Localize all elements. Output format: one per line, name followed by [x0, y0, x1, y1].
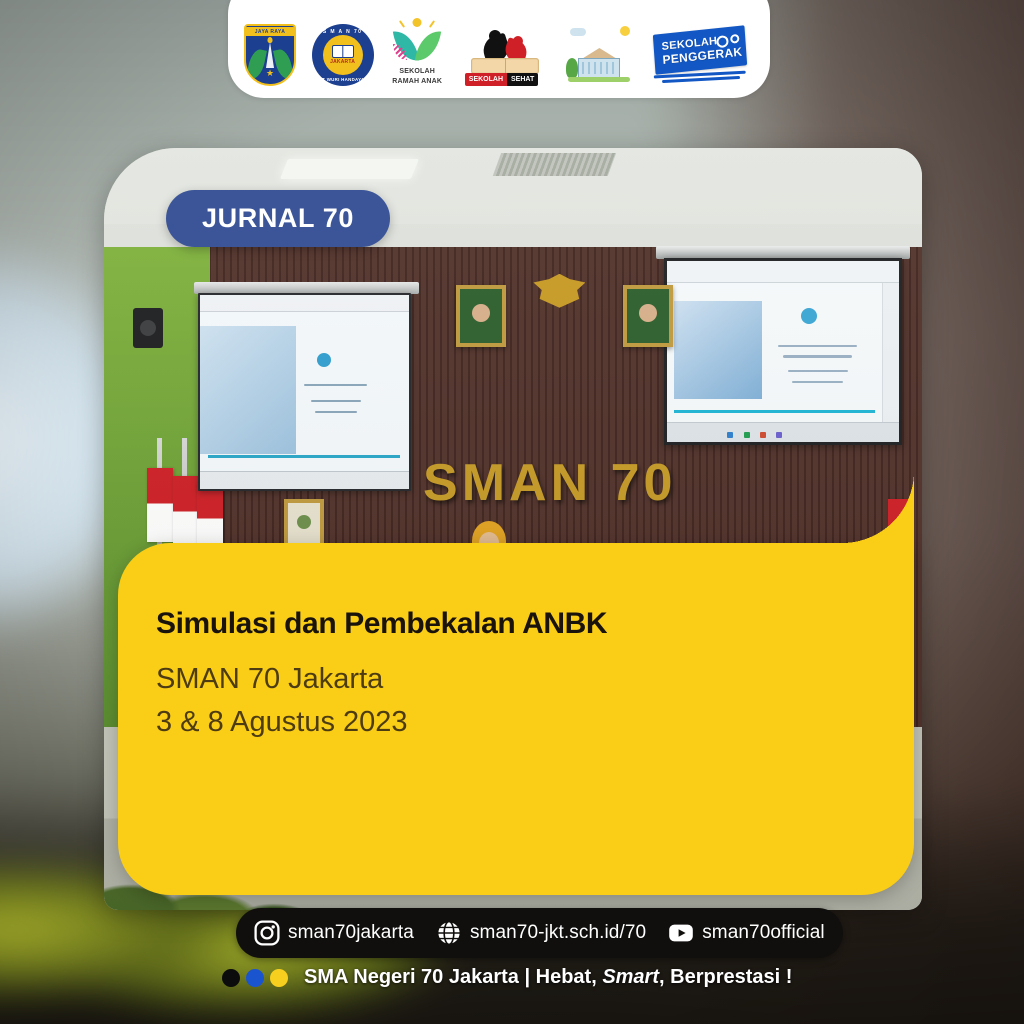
dki-leaf-right — [273, 48, 294, 80]
wall-speaker — [133, 308, 163, 348]
house-body — [578, 58, 620, 78]
logo-green-school-house — [564, 12, 634, 86]
sman70-logo-icon: S M A N 70 JAKARTA TUT WURI HANDAYANI — [312, 24, 374, 86]
tagline-part-after: , Berprestasi ! — [659, 966, 792, 988]
logo-sekolah-ramah-anak: SEKOLAH RAMAH ANAK — [389, 12, 445, 86]
info-card-corner-notch — [842, 471, 914, 543]
slide-toolbar-left — [200, 295, 409, 312]
president-portrait — [456, 285, 506, 347]
sekolah-penggerak-icon: SEKOLAH PENGGERAK — [650, 26, 754, 86]
slide-text-line — [792, 381, 843, 384]
sp-flag-banner: SEKOLAH PENGGERAK — [653, 25, 747, 75]
event-date: 3 & 8 Agustus 2023 — [156, 706, 408, 739]
ss-wordmark-part1: SEKOLAH — [465, 73, 507, 86]
sman70-arc-top-label: S M A N 70 — [312, 29, 374, 35]
slide-accent-bar-right — [674, 410, 875, 413]
ss-wordmark-part2: SEHAT — [507, 73, 538, 86]
social-links-bar: sman70jakarta sman70-jkt.sch.id/70 sman7… — [236, 908, 843, 958]
dot-yellow-icon — [270, 969, 288, 987]
dki-leaf-left — [246, 48, 267, 80]
dki-jakarta-emblem-icon: JAYA RAYA ★ — [244, 24, 296, 86]
youtube-handle: sman70official — [702, 922, 825, 944]
ss-wordmark: SEKOLAH SEHAT — [465, 73, 538, 86]
event-location: SMAN 70 Jakarta — [156, 663, 383, 696]
slide-text-line — [315, 411, 357, 413]
open-book-icon — [332, 45, 354, 58]
slide-photo-right — [674, 301, 762, 399]
sra-caption-line2: RAMAH ANAK — [392, 78, 442, 86]
projector-roller-right — [656, 246, 910, 260]
sra-ray-left — [399, 20, 405, 28]
school-house-icon — [564, 24, 634, 86]
slide-emblem-left — [317, 353, 331, 367]
dki-star-icon: ★ — [266, 69, 274, 78]
slide-text-line — [311, 400, 361, 402]
sekolah-ramah-anak-icon — [389, 18, 445, 66]
slide-text-line — [788, 370, 848, 373]
logo-sekolah-sehat: SEKOLAH SEHAT — [461, 12, 549, 86]
sman70-arc-bottom-label: TUT WURI HANDAYANI — [312, 77, 374, 82]
slide-emblem-right — [801, 308, 817, 324]
poster-root: JAYA RAYA ★ S M A N 70 JAKARTA TUT WURI … — [0, 0, 1024, 1024]
taskbar-icon — [776, 432, 782, 438]
ss-open-book — [471, 58, 539, 74]
indonesian-flag-1 — [147, 468, 173, 542]
ceiling-vent — [492, 153, 615, 176]
sp-gear-large — [716, 35, 729, 48]
social-link-website[interactable]: sman70-jkt.sch.id/70 — [436, 920, 646, 946]
jurnal-badge[interactable]: JURNAL 70 — [166, 190, 390, 247]
projector-screen-left — [198, 293, 411, 491]
tree-icon — [566, 58, 578, 78]
indonesian-flag-2 — [173, 476, 199, 550]
website-url: sman70-jkt.sch.id/70 — [470, 922, 646, 944]
tagline-text: SMA Negeri 70 Jakarta | Hebat, Smart, Be… — [304, 966, 792, 989]
info-card: Simulasi dan Pembekalan ANBK SMAN 70 Jak… — [118, 543, 914, 895]
sp-gears-icon — [716, 34, 740, 48]
cloud-icon — [570, 28, 586, 36]
sun-icon — [620, 26, 630, 36]
vice-president-portrait — [623, 285, 673, 347]
tagline-part-italic: Smart — [602, 966, 659, 988]
dot-blue-icon — [246, 969, 264, 987]
slide-accent-bar-left — [208, 455, 400, 458]
dki-ribbon-label: JAYA RAYA — [246, 27, 294, 36]
instagram-icon[interactable] — [254, 920, 280, 946]
logo-sekolah-penggerak: SEKOLAH PENGGERAK — [650, 12, 754, 86]
projector-screen-right — [664, 258, 901, 445]
logo-bar: JAYA RAYA ★ S M A N 70 JAKARTA TUT WURI … — [228, 0, 770, 98]
sra-petal-green — [415, 29, 441, 64]
slide-toolbar-right — [667, 261, 898, 283]
framed-wall-picture — [284, 499, 324, 549]
social-link-instagram[interactable]: sman70jakarta — [254, 920, 414, 946]
sp-gear-small — [730, 34, 740, 44]
house-ground — [568, 77, 630, 82]
taskbar-icon — [727, 432, 733, 438]
slide-text-line — [783, 355, 852, 358]
logo-dki-jakarta-emblem: JAYA RAYA ★ — [244, 12, 296, 86]
youtube-icon[interactable] — [668, 920, 694, 946]
ceiling-light — [280, 159, 419, 179]
school-tagline: SMA Negeri 70 Jakarta | Hebat, Smart, Be… — [222, 966, 792, 989]
sman70-center-label: JAKARTA — [330, 59, 355, 65]
sra-caption-line1: SEKOLAH — [399, 68, 435, 76]
taskbar-icon — [760, 432, 766, 438]
event-title: Simulasi dan Pembekalan ANBK — [156, 607, 607, 641]
sra-sun-icon — [413, 18, 422, 27]
wall-sman70-lettering: SMAN 70 — [423, 453, 676, 513]
slide-text-line — [304, 384, 367, 386]
slide-text-line — [778, 345, 857, 348]
slide-sidebar-right — [882, 283, 898, 422]
slide-taskbar-left — [200, 471, 409, 488]
sekolah-sehat-icon: SEKOLAH SEHAT — [461, 30, 549, 86]
tagline-part-before: SMA Negeri 70 Jakarta | Hebat, — [304, 966, 602, 988]
logo-sman70: S M A N 70 JAKARTA TUT WURI HANDAYANI — [312, 12, 374, 86]
taskbar-icon — [744, 432, 750, 438]
dot-black-icon — [222, 969, 240, 987]
social-link-youtube[interactable]: sman70official — [668, 920, 825, 946]
sman70-inner-disc: JAKARTA — [323, 35, 363, 75]
instagram-handle: sman70jakarta — [288, 922, 414, 944]
slide-photo-left — [200, 326, 296, 454]
slide-taskbar-right — [667, 422, 898, 442]
dki-monas-tower — [266, 42, 274, 68]
sra-ray-right — [429, 20, 435, 28]
globe-icon[interactable] — [436, 920, 462, 946]
